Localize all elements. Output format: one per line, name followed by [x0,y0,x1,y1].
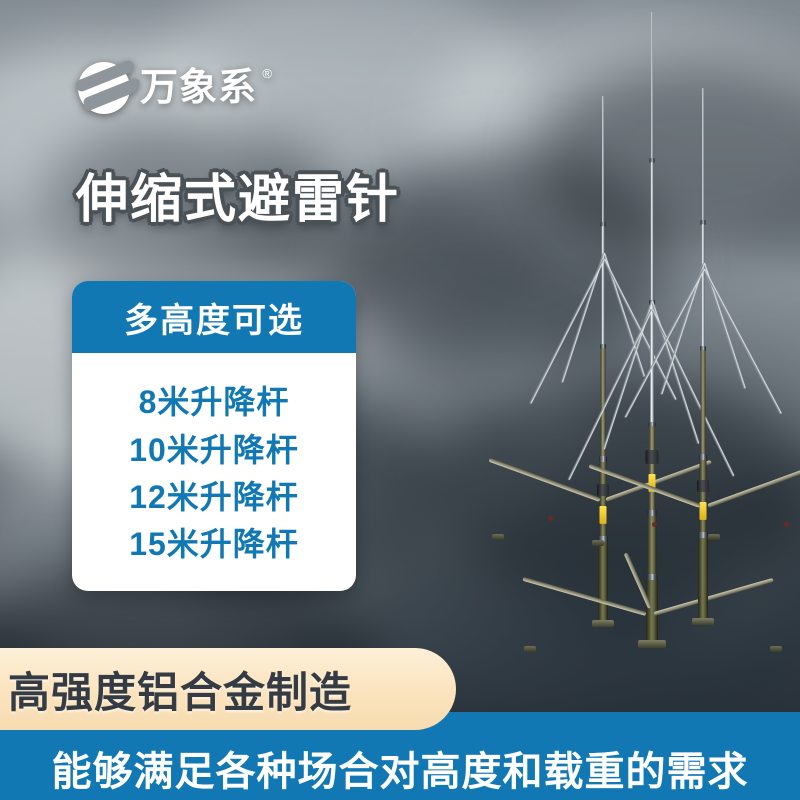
material-banner-label: 高强度铝合金制造 [0,659,352,720]
tripod-foot [492,534,504,540]
list-item[interactable]: 12米升降杆 [129,475,299,520]
list-item[interactable]: 15米升降杆 [129,522,299,567]
leg-pin [548,516,553,521]
card-header: 多高度可选 [72,281,356,353]
guy-wire [703,269,782,415]
leg-pin [784,522,789,527]
tripod-leg [522,577,646,616]
tripod-foot [592,540,604,546]
leg-pin [652,522,657,527]
page-title: 伸缩式避雷针 [76,172,400,229]
list-item[interactable]: 8米升降杆 [139,380,290,425]
height-options-list: 8米升降杆 10米升降杆 12米升降杆 15米升降杆 [72,353,356,591]
registered-mark: ® [262,67,273,80]
tripod-leg [707,468,800,508]
swirl-globe-icon [78,62,130,114]
card-header-label: 多高度可选 [124,293,304,342]
material-banner: 高强度铝合金制造 [0,648,456,730]
tripod-foot [770,646,782,652]
list-item[interactable]: 10米升降杆 [129,428,299,473]
tripod-foot [524,646,536,652]
tripod-leg [488,458,600,502]
mast-right [692,88,714,636]
brand-name: 万象系® [140,69,257,107]
height-options-card: 多高度可选 8米升降杆 10米升降杆 12米升降杆 15米升降杆 [72,281,356,591]
brand-logo: 万象系® [78,62,257,114]
mast-left [592,96,614,636]
product-poster: 万象系® 伸缩式避雷针 多高度可选 8米升降杆 10米升降杆 12米升降杆 15… [0,0,800,800]
tagline-banner-label: 能够满足各种场合对高度和载重的需求 [52,739,749,797]
